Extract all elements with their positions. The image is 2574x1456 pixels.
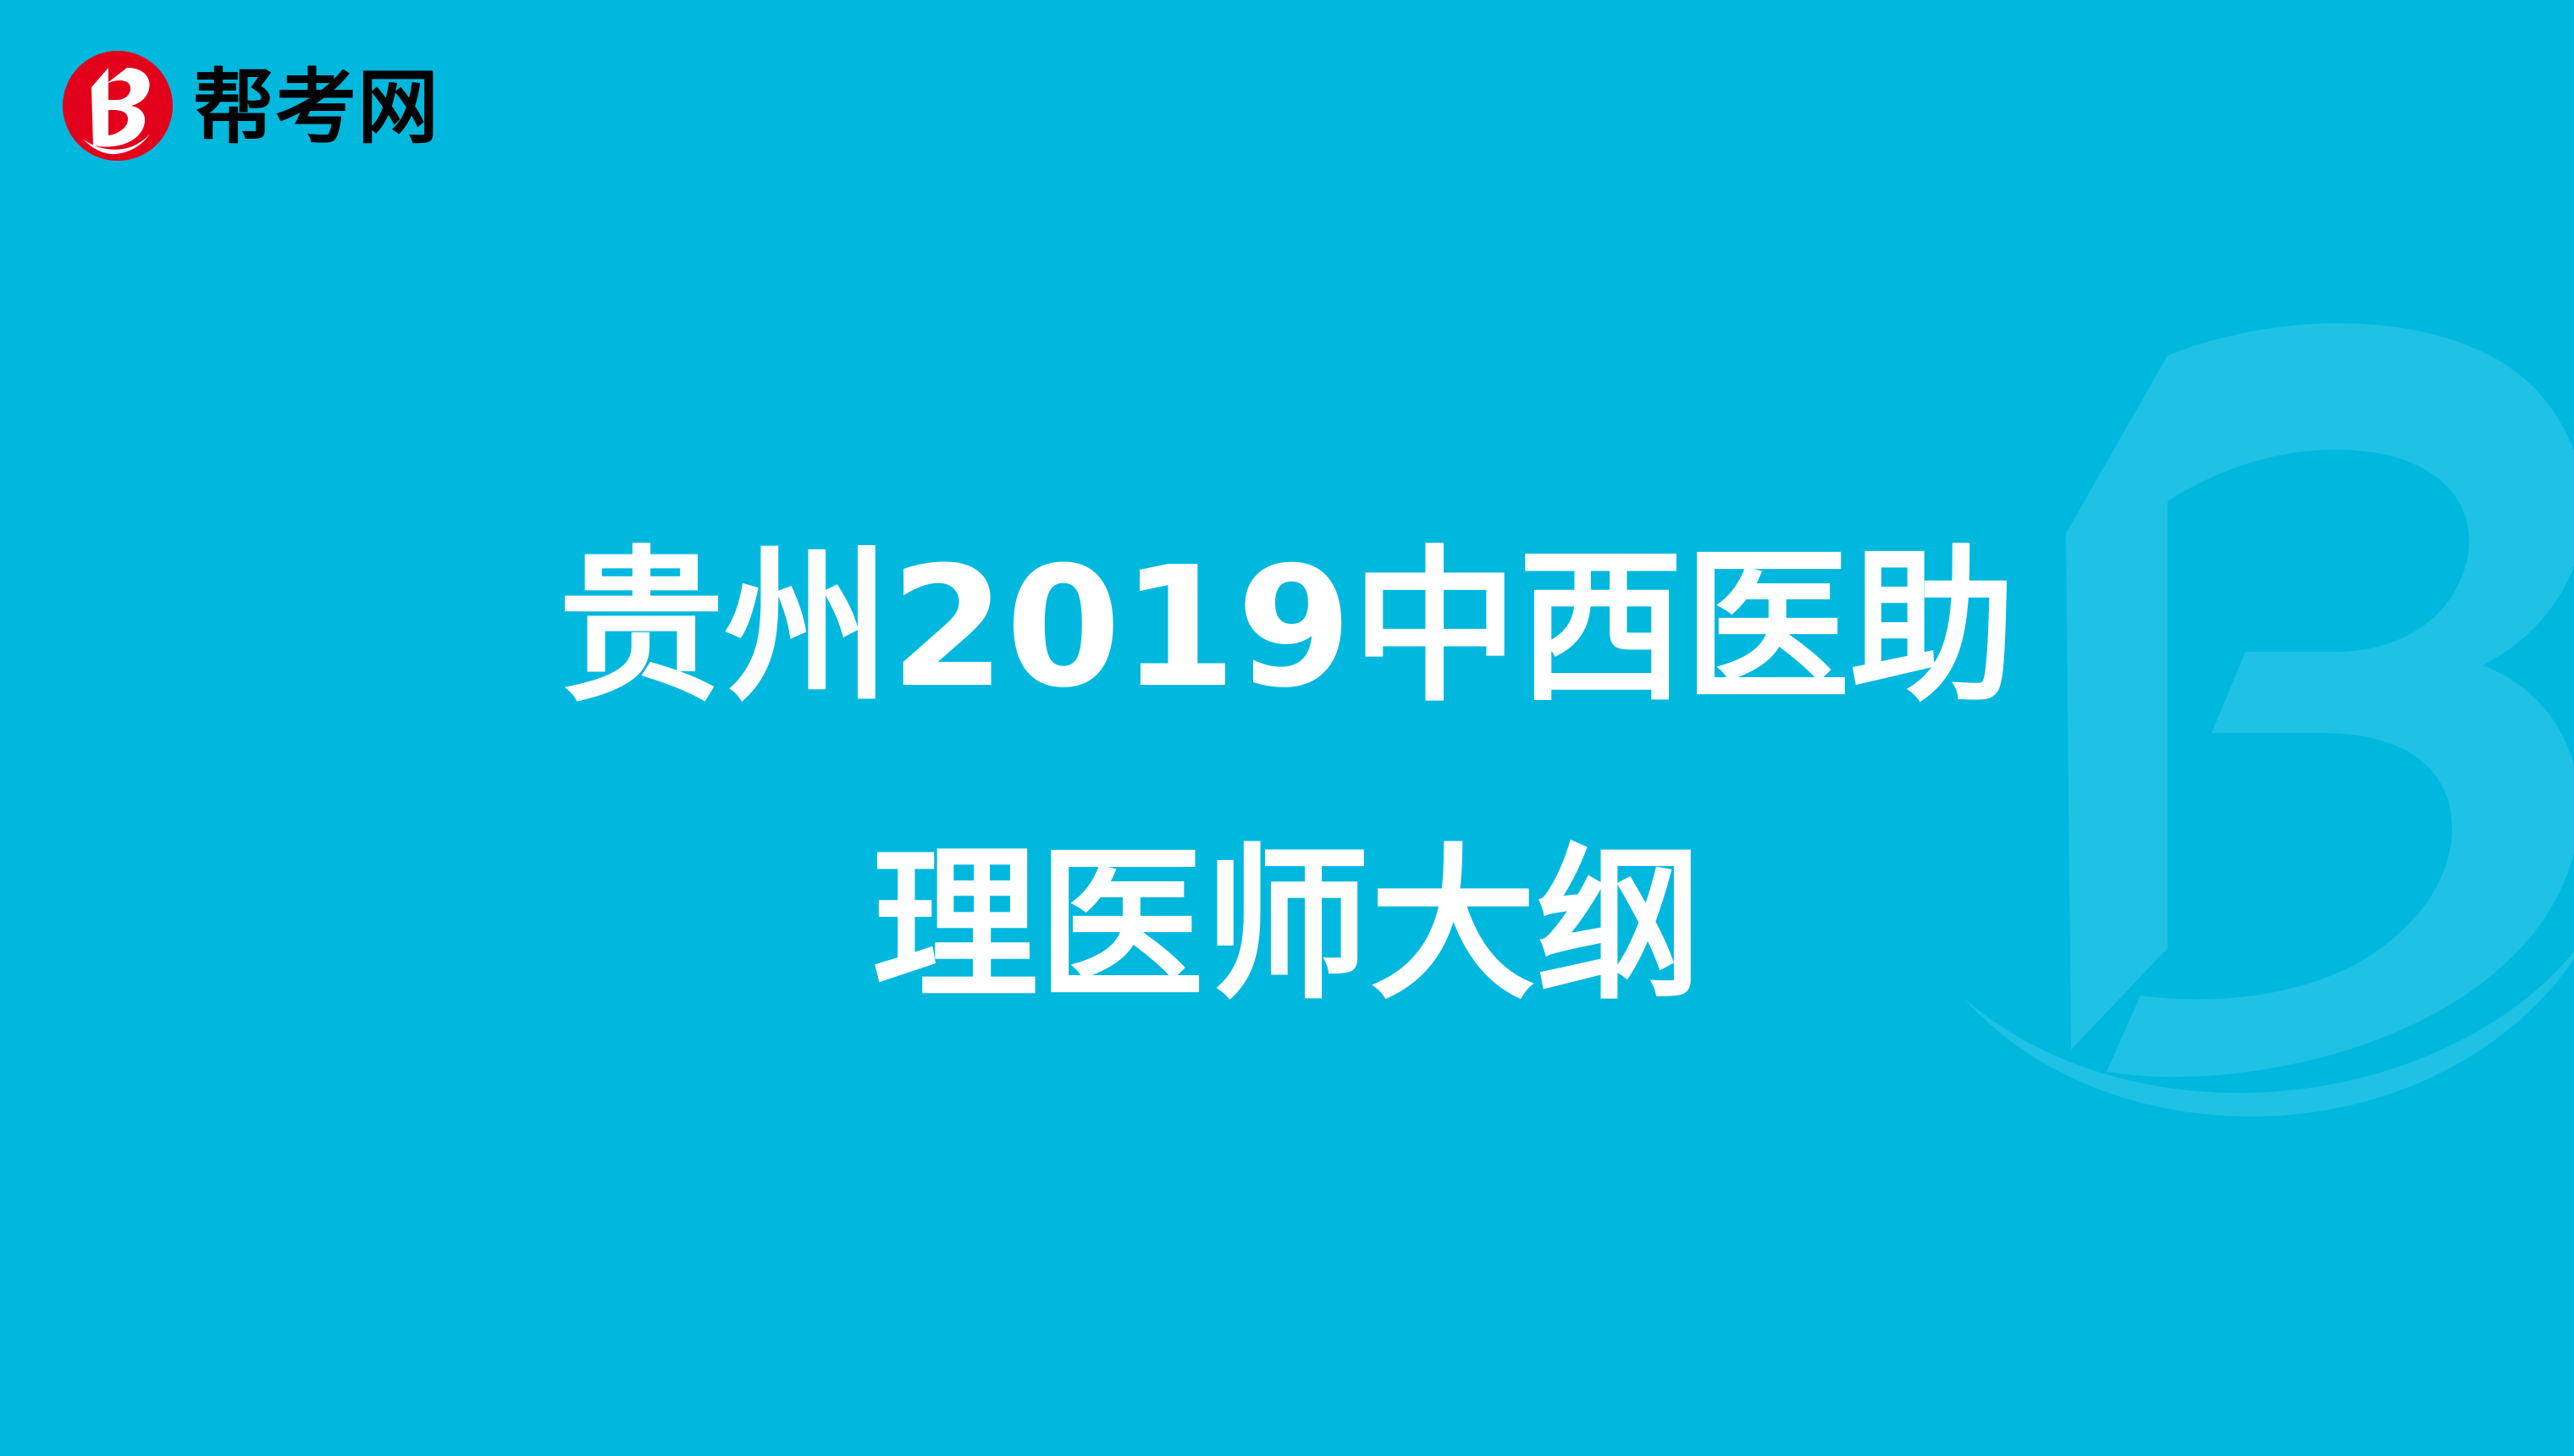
page-title-line-1: 贵州2019中西医助 — [0, 479, 2574, 777]
page-title-line-2: 理医师大纲 — [0, 777, 2574, 1075]
bangkao-b-badge-icon — [61, 49, 174, 163]
site-logo-wordmark: 帮考网 — [193, 67, 439, 148]
slide-canvas: 帮考网 贵州2019中西医助 理医师大纲 — [0, 0, 2574, 1456]
page-title: 贵州2019中西医助 理医师大纲 — [0, 479, 2574, 1075]
site-logo[interactable]: 帮考网 — [61, 49, 439, 163]
